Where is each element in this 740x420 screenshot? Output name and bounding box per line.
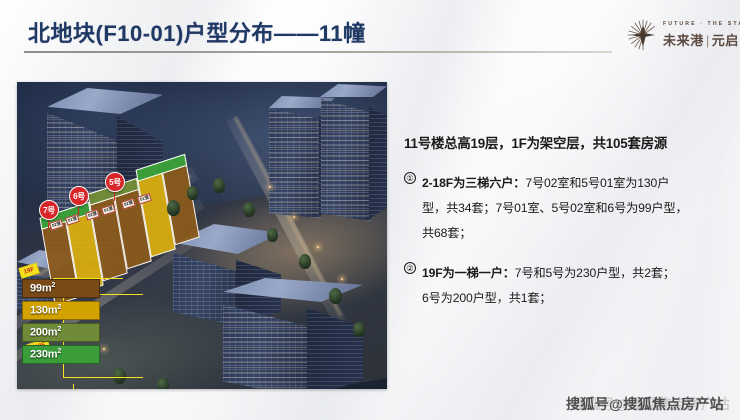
legend-label: 99m — [30, 283, 51, 295]
legend-item-230: 230m2 — [22, 345, 100, 364]
logo-separator: | — [704, 33, 712, 48]
sunburst-star-icon — [626, 18, 660, 52]
legend-item-130: 130m2 — [22, 301, 100, 320]
bullet-item-2: ② 19F为一梯一户：7号和5号为230户型，共2套； 6号为200户型，共1套… — [404, 261, 724, 311]
brand-logo: FUTURE · THE START 未来港|元启 — [626, 16, 726, 56]
legend-unit: 2 — [57, 304, 61, 311]
building-badge-5[interactable]: 5号 — [105, 172, 125, 192]
render-scene: 02室 01室 02室 01室 02室 01室 7号 6号 5号 19F 2-1… — [17, 82, 387, 389]
street-lamp — [293, 216, 295, 218]
building-badge-7[interactable]: 7号 — [39, 200, 59, 220]
bullet-continuation: 共68套； — [404, 221, 724, 246]
logo-word-right: 元启 — [712, 33, 739, 48]
page-title: 北地块(F10-01)户型分布——11幢 — [28, 16, 366, 48]
legend-item-200: 200m2 — [22, 323, 100, 342]
tree — [329, 288, 342, 304]
panel-headline: 11号楼总高19层，1F为架空层，共105套房源 — [404, 132, 724, 152]
logo-tagline: FUTURE · THE START — [663, 21, 740, 27]
badge-leader-line — [48, 220, 49, 228]
building-badge-6[interactable]: 6号 — [69, 186, 89, 206]
tree — [299, 254, 311, 269]
legend-label: 200m — [30, 327, 57, 339]
floor-bracket-1f — [73, 384, 149, 389]
tree — [167, 200, 180, 216]
tree — [353, 322, 365, 337]
bullet-text: 19F为一梯一户：7号和5号为230户型，共2套； — [404, 261, 724, 286]
bullet-number: ① — [404, 172, 416, 184]
bullet-continuation: 型，共34套；7号01室、5号02室和6号为99户型， — [404, 196, 724, 221]
badge-leader-line — [78, 206, 79, 215]
bullet-text: 2-18F为三梯六户：7号02室和5号01室为130户 — [404, 171, 724, 196]
background-tower — [317, 84, 387, 219]
logo-word-left: 未来港 — [663, 33, 704, 48]
bullet-continuation: 6号为200户型，共1套； — [404, 286, 724, 311]
tree — [267, 228, 278, 242]
bullet-rest: 7号02室和5号01室为130户 — [525, 176, 669, 190]
legend-unit: 2 — [57, 348, 61, 355]
tree — [243, 202, 255, 217]
bullet-number: ② — [404, 262, 416, 274]
legend-unit: 2 — [51, 282, 55, 289]
area-legend: 99m2 130m2 200m2 230m2 — [22, 279, 104, 367]
legend-item-99: 99m2 — [22, 279, 100, 298]
description-panel: 11号楼总高19层，1F为架空层，共105套房源 ① 2-18F为三梯六户：7号… — [404, 132, 724, 326]
bullet-item-1: ① 2-18F为三梯六户：7号02室和5号01室为130户 型，共34套；7号0… — [404, 171, 724, 246]
site-render-image: 02室 01室 02室 01室 02室 01室 7号 6号 5号 19F 2-1… — [17, 82, 387, 389]
tree — [213, 178, 225, 193]
legend-unit: 2 — [57, 326, 61, 333]
street-lamp — [317, 246, 319, 248]
header: 北地块(F10-01)户型分布——11幢 FUTURE · TH — [0, 0, 740, 62]
legend-label: 130m — [30, 305, 57, 317]
street-lamp — [341, 278, 343, 280]
title-divider — [24, 51, 612, 53]
bullet-bold: 19F为一梯一户： — [422, 266, 515, 280]
bullet-rest: 7号和5号为230户型，共2套； — [515, 266, 675, 280]
tree — [187, 186, 198, 200]
tree — [157, 378, 169, 389]
watermark: 搜狐号@搜狐焦点房产站 — [566, 394, 724, 414]
street-lamp — [269, 186, 271, 188]
foreground-tower — [223, 278, 363, 389]
legend-label: 230m — [30, 349, 57, 361]
logo-wordmark: 未来港|元启 — [663, 30, 739, 49]
badge-leader-line — [114, 192, 115, 201]
bullet-bold: 2-18F为三梯六户： — [422, 176, 525, 190]
